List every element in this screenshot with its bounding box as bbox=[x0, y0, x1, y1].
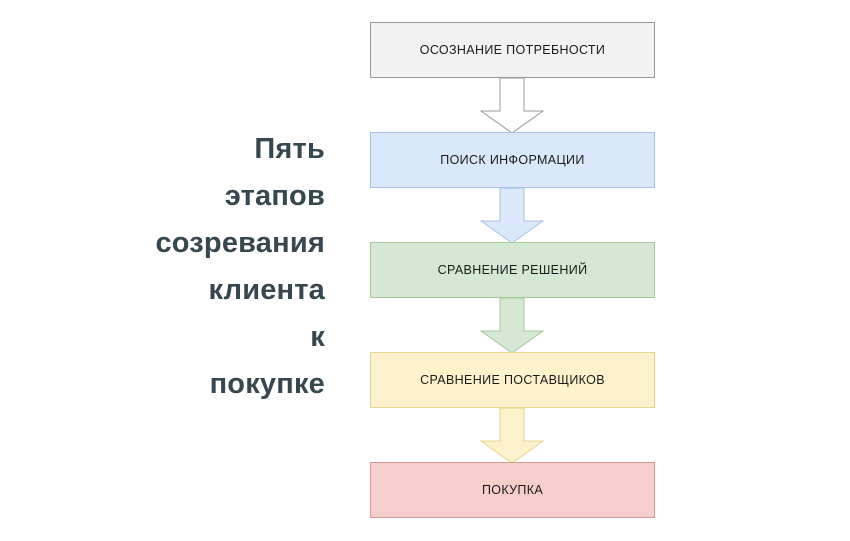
arrow-shape-4 bbox=[481, 408, 543, 463]
arrow-down-icon-1 bbox=[481, 78, 543, 133]
stage-label-5: ПОКУПКА bbox=[474, 483, 551, 498]
stage-box-5[interactable]: ПОКУПКА bbox=[370, 462, 655, 518]
arrow-down-icon-2 bbox=[481, 188, 543, 243]
stage-box-3[interactable]: СРАВНЕНИЕ РЕШЕНИЙ bbox=[370, 242, 655, 298]
arrow-shape-2 bbox=[481, 188, 543, 243]
arrow-down-icon-3 bbox=[481, 298, 543, 353]
diagram-canvas: Пять этапов созревания клиента к покупке… bbox=[0, 0, 850, 541]
arrow-shape-1 bbox=[481, 78, 543, 133]
stage-box-4[interactable]: СРАВНЕНИЕ ПОСТАВЩИКОВ bbox=[370, 352, 655, 408]
stage-box-2[interactable]: ПОИСК ИНФОРМАЦИИ bbox=[370, 132, 655, 188]
diagram-title: Пять этапов созревания клиента к покупке bbox=[120, 126, 325, 408]
stage-label-3: СРАВНЕНИЕ РЕШЕНИЙ bbox=[430, 263, 596, 278]
arrow-down-icon-4 bbox=[481, 408, 543, 463]
funnel-flow: ОСОЗНАНИЕ ПОТРЕБНОСТИ ПОИСК ИНФОРМАЦИИ С… bbox=[370, 22, 655, 519]
stage-box-1[interactable]: ОСОЗНАНИЕ ПОТРЕБНОСТИ bbox=[370, 22, 655, 78]
stage-label-4: СРАВНЕНИЕ ПОСТАВЩИКОВ bbox=[412, 373, 613, 388]
stage-label-1: ОСОЗНАНИЕ ПОТРЕБНОСТИ bbox=[412, 43, 614, 58]
arrow-shape-3 bbox=[481, 298, 543, 353]
stage-label-2: ПОИСК ИНФОРМАЦИИ bbox=[432, 153, 592, 168]
